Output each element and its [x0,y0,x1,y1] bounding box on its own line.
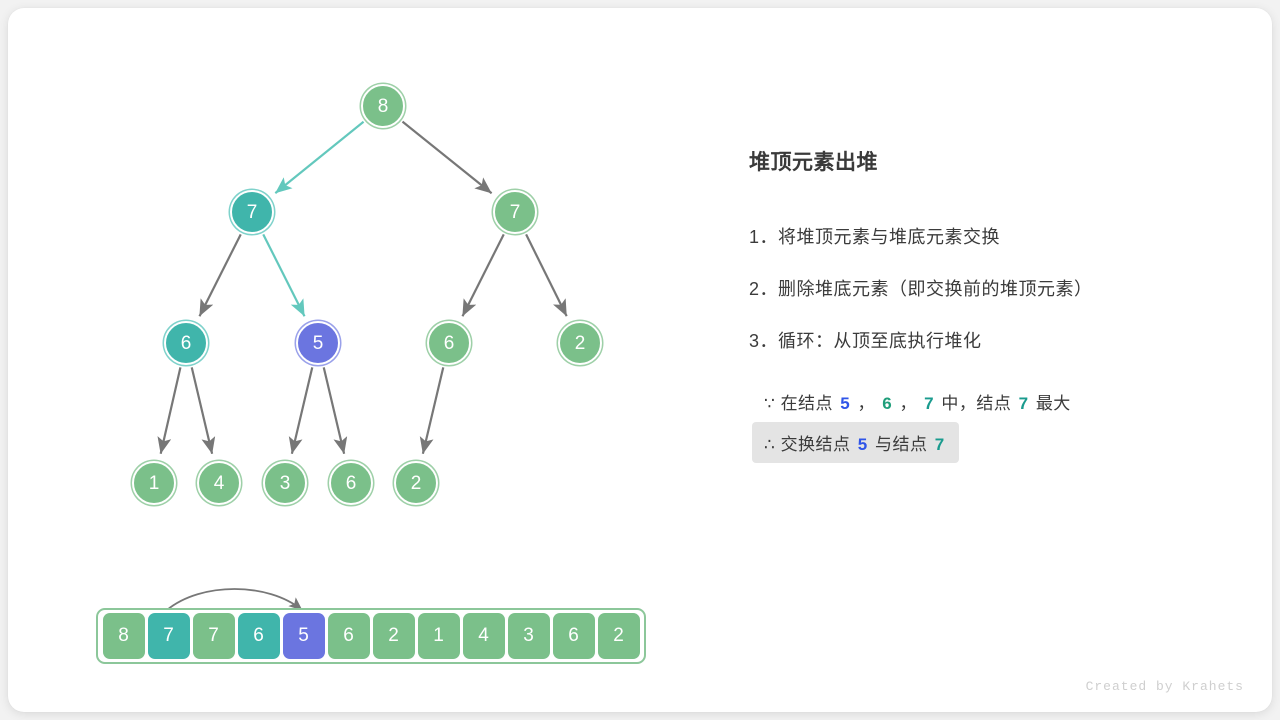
credit-footer: Created by Krahets [1086,679,1244,694]
tree-node-label: 2 [411,474,422,493]
tree-edge-8-to-7 [275,122,363,193]
tree-edge-8-to-7 [402,122,491,194]
array-cell-label: 6 [343,625,354,647]
premise-middle: 中，结点 [941,394,1011,413]
tree-edge-7-to-5 [263,234,304,316]
tree-node-label: 7 [510,203,521,222]
tree-node-label: 4 [214,474,225,493]
array-cell-label: 5 [298,625,309,647]
tree-edge-7-to-6 [462,234,503,316]
premise-value-c: 7 [922,394,936,413]
premise-sep-2: ， [899,394,917,413]
tree-node-label: 8 [378,97,389,116]
array-cell-label: 1 [433,625,444,647]
array-cell-6: 2 [373,613,415,659]
array-cell-label: 6 [253,625,264,647]
tree-node-label: 7 [247,203,258,222]
array-cell-7: 1 [418,613,460,659]
array-cell-0: 8 [103,613,145,659]
array-cell-label: 8 [118,625,129,647]
array-cell-9: 3 [508,613,550,659]
tree-node-5: 5 [296,321,340,365]
tree-node-7: 7 [230,190,274,234]
tree-node-2: 2 [394,461,438,505]
tree-node-6: 6 [329,461,373,505]
tree-edge-6-to-4 [192,367,212,453]
premise-value-a: 5 [838,394,852,413]
array-cell-label: 3 [523,625,534,647]
array-cell-label: 4 [478,625,489,647]
conclusion-result: ∴ 交换结点 5 与结点 7 [752,422,959,463]
therefore-symbol: ∴ [764,435,775,454]
tree-node-label: 3 [280,474,291,493]
result-middle: 与结点 [875,435,928,454]
array-cell-1: 7 [148,613,190,659]
premise-value-d: 7 [1017,394,1031,413]
tree-node-6: 6 [427,321,471,365]
premise-sep-1: ， [858,394,876,413]
tree-edge-7-to-6 [199,234,240,316]
premise-value-b: 6 [880,394,894,413]
tree-node-label: 6 [346,474,357,493]
tree-node-2: 2 [558,321,602,365]
conclusion-premise: ∵ 在结点 5 ， 6 ， 7 中，结点 7 最大 [752,381,1083,422]
tree-edge-5-to-6 [324,367,344,453]
tree-node-label: 5 [313,334,324,353]
premise-suffix: 最大 [1036,394,1071,413]
step-item-3: 3．循环：从顶至底执行堆化 [749,327,982,353]
array-cell-label: 6 [568,625,579,647]
heap-tree-diagram: 877656214362 877656214362 [8,8,708,712]
tree-node-4: 4 [197,461,241,505]
heap-array: 877656214362 [96,608,646,664]
tree-edge-6-to-1 [161,367,181,453]
array-cell-8: 4 [463,613,505,659]
tree-node-label: 2 [575,334,586,353]
page-title: 堆顶元素出堆 [749,146,878,176]
tree-node-3: 3 [263,461,307,505]
array-cell-4: 5 [283,613,325,659]
array-cell-3: 6 [238,613,280,659]
tree-node-label: 6 [181,334,192,353]
step-item-2: 2．删除堆底元素（即交换前的堆顶元素） [749,275,1093,301]
tree-node-6: 6 [164,321,208,365]
result-value-b: 7 [933,435,947,454]
tree-node-1: 1 [132,461,176,505]
tree-node-8: 8 [361,84,405,128]
premise-prefix: 在结点 [781,394,834,413]
result-prefix: 交换结点 [781,435,851,454]
result-value-a: 5 [856,435,870,454]
tree-node-7: 7 [493,190,537,234]
tree-edge-5-to-3 [292,367,312,453]
explanation-panel: 堆顶元素出堆 1．将堆顶元素与堆底元素交换 2．删除堆底元素（即交换前的堆顶元素… [749,8,1249,712]
array-container: 877656214362 [96,608,646,664]
tree-node-label: 1 [149,474,160,493]
array-cell-5: 6 [328,613,370,659]
array-cell-label: 2 [388,625,399,647]
array-cell-label: 2 [613,625,624,647]
array-cell-11: 2 [598,613,640,659]
tree-edge-layer [161,122,567,454]
tree-edge-7-to-2 [526,234,567,316]
array-cell-label: 7 [208,625,219,647]
tree-edge-6-to-2 [423,367,443,453]
array-cell-2: 7 [193,613,235,659]
tree-node-label: 6 [444,334,455,353]
array-cell-10: 6 [553,613,595,659]
because-symbol: ∵ [764,394,775,413]
array-cell-label: 7 [163,625,174,647]
step-item-1: 1．将堆顶元素与堆底元素交换 [749,223,1000,249]
diagram-card: 877656214362 877656214362 堆顶元素出堆 1．将堆顶元素… [8,8,1272,712]
